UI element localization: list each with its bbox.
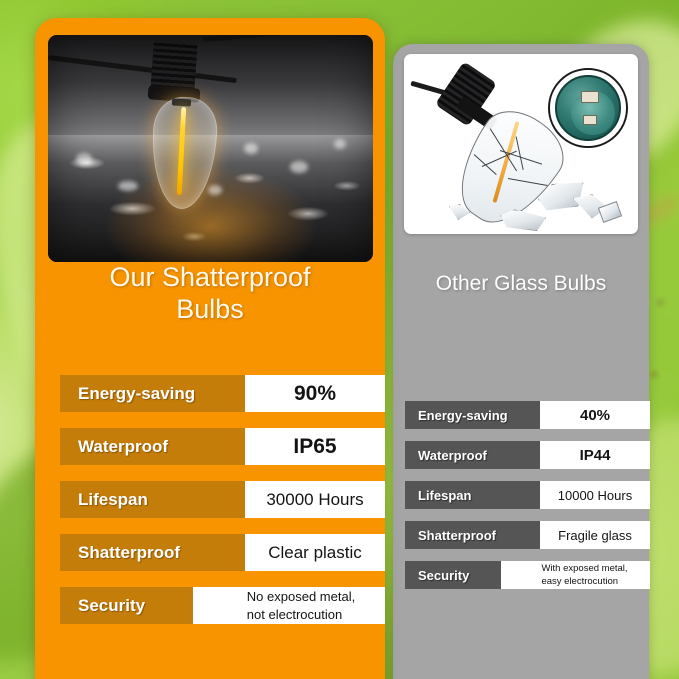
spec-label: Lifespan xyxy=(405,481,540,509)
table-row: Waterproof IP65 xyxy=(60,428,385,465)
comparison-infographic: Other Glass Bulbs Energy-saving 40% Wate… xyxy=(0,0,679,679)
panel-title-other: Other Glass Bulbs xyxy=(393,271,649,296)
table-row: Security No exposed metal, not electrocu… xyxy=(60,587,385,624)
spec-value: Fragile glass xyxy=(540,521,650,549)
spec-label: Shatterproof xyxy=(405,521,540,549)
panel-title-ours: Our Shatterproof Bulbs xyxy=(35,261,385,326)
socket-ring xyxy=(555,75,621,141)
table-row: Waterproof IP44 xyxy=(405,441,650,469)
other-glass-bulbs-panel: Other Glass Bulbs Energy-saving 40% Wate… xyxy=(393,44,649,679)
spec-label: Energy-saving xyxy=(405,401,540,429)
spec-label: Energy-saving xyxy=(60,375,245,412)
table-row: Lifespan 30000 Hours xyxy=(60,481,385,518)
leaf-spot xyxy=(651,372,657,377)
spec-label: Security xyxy=(405,561,501,589)
spec-value: 10000 Hours xyxy=(540,481,650,509)
photo-vignette xyxy=(48,35,373,262)
leaf-spot xyxy=(658,300,663,305)
shatterproof-bulb-photo xyxy=(48,35,373,262)
spec-label: Waterproof xyxy=(405,441,540,469)
spec-value: 90% xyxy=(245,375,385,412)
socket-contact xyxy=(583,115,597,125)
spec-table-ours: Energy-saving 90% Waterproof IP65 Lifesp… xyxy=(60,375,385,640)
spec-value: No exposed metal, not electrocution xyxy=(193,587,385,624)
table-row: Security With exposed metal, easy electr… xyxy=(405,561,650,589)
our-shatterproof-bulbs-panel: Our Shatterproof Bulbs Energy-saving 90%… xyxy=(35,18,385,679)
spec-label: Shatterproof xyxy=(60,534,245,571)
spec-value: Clear plastic xyxy=(245,534,385,571)
spec-value: 40% xyxy=(540,401,650,429)
cracked-glass-bulb-photo xyxy=(404,54,638,234)
spec-label: Lifespan xyxy=(60,481,245,518)
spec-label: Waterproof xyxy=(60,428,245,465)
table-row: Shatterproof Clear plastic xyxy=(60,534,385,571)
table-row: Energy-saving 90% xyxy=(60,375,385,412)
spec-value: With exposed metal, easy electrocution xyxy=(501,561,650,589)
socket-closeup-inset xyxy=(548,68,628,148)
socket-contact xyxy=(581,91,599,103)
spec-value: 30000 Hours xyxy=(245,481,385,518)
table-row: Shatterproof Fragile glass xyxy=(405,521,650,549)
table-row: Lifespan 10000 Hours xyxy=(405,481,650,509)
spec-value: IP65 xyxy=(245,428,385,465)
table-row: Energy-saving 40% xyxy=(405,401,650,429)
spec-table-other: Energy-saving 40% Waterproof IP44 Lifesp… xyxy=(405,401,650,601)
spec-value: IP44 xyxy=(540,441,650,469)
spec-label: Security xyxy=(60,587,193,624)
